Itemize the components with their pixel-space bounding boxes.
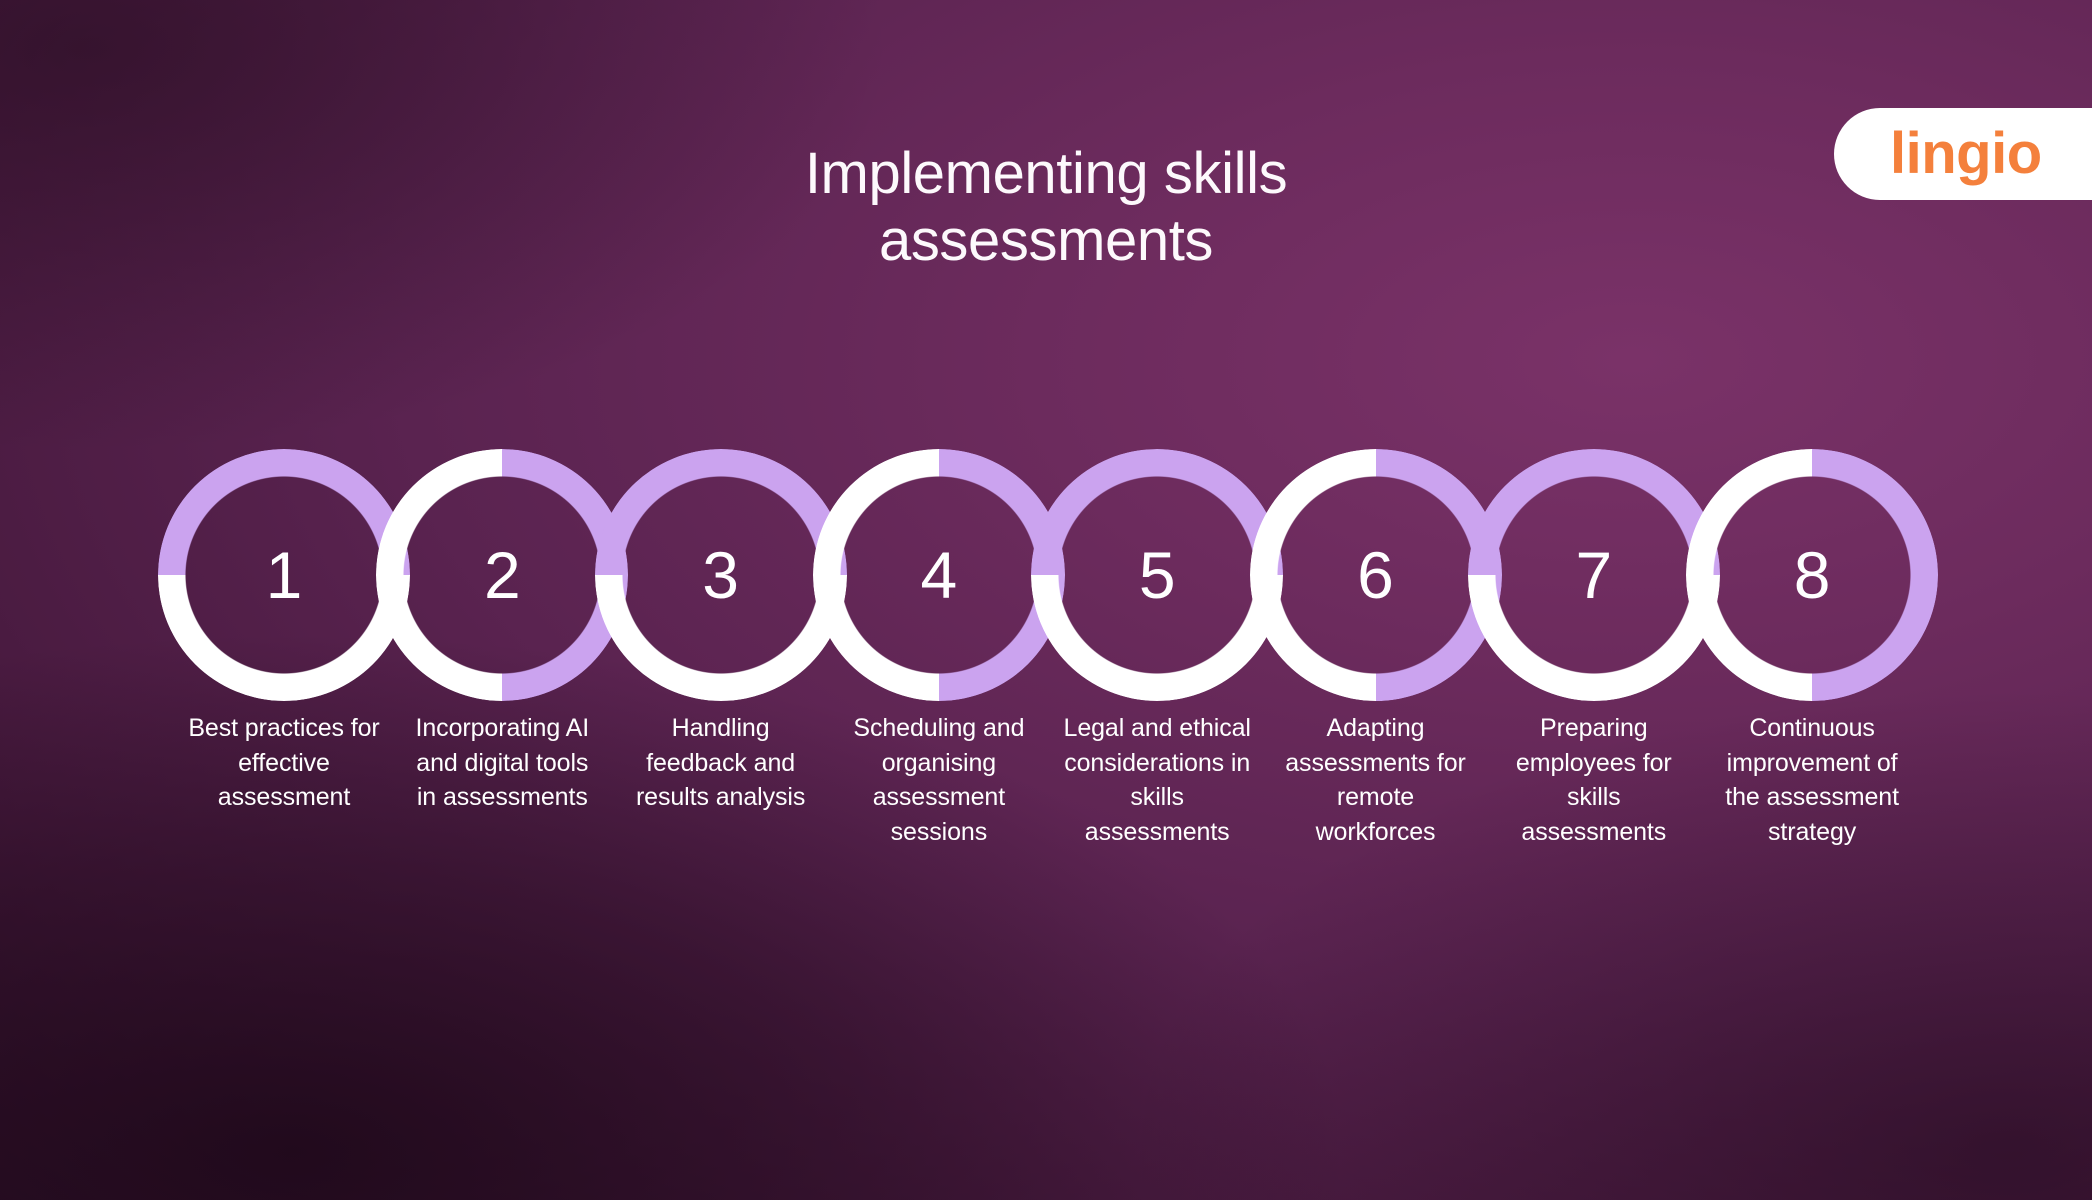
slide-title: Implementing skills assessments [496, 140, 1596, 275]
step-1[interactable]: 1Best practices for effective assessment [158, 449, 410, 921]
step-4[interactable]: 4Scheduling and organising assessment se… [813, 449, 1065, 921]
step-1-number: 1 [158, 449, 410, 701]
step-8-ring: 8 [1686, 449, 1938, 701]
step-3-label: Handling feedback and results analysis [623, 711, 819, 815]
step-6[interactable]: 6Adapting assessments for remote workfor… [1250, 449, 1502, 921]
slide-canvas: lingio Implementing skills assessments 1… [0, 0, 2092, 1200]
step-4-ring: 4 [813, 449, 1065, 701]
step-3-number: 3 [595, 449, 847, 701]
step-6-label: Adapting assessments for remote workforc… [1278, 711, 1474, 849]
step-7[interactable]: 7Preparing employees for skills assessme… [1468, 449, 1720, 921]
step-8[interactable]: 8Continuous improvement of the assessmen… [1686, 449, 1938, 921]
step-5-number: 5 [1031, 449, 1283, 701]
step-4-number: 4 [813, 449, 1065, 701]
step-2-number: 2 [376, 449, 628, 701]
step-1-label: Best practices for effective assessment [186, 711, 382, 815]
step-7-number: 7 [1468, 449, 1720, 701]
step-5-label: Legal and ethical considerations in skil… [1059, 711, 1255, 849]
step-1-ring: 1 [158, 449, 410, 701]
step-2[interactable]: 2Incorporating AI and digital tools in a… [376, 449, 628, 921]
step-2-ring: 2 [376, 449, 628, 701]
step-7-label: Preparing employees for skills assessmen… [1496, 711, 1692, 849]
step-8-number: 8 [1686, 449, 1938, 701]
step-3-ring: 3 [595, 449, 847, 701]
step-4-label: Scheduling and organising assessment ses… [841, 711, 1037, 849]
step-7-ring: 7 [1468, 449, 1720, 701]
step-6-number: 6 [1250, 449, 1502, 701]
lingio-logo: lingio [1834, 108, 2092, 200]
step-5[interactable]: 5Legal and ethical considerations in ski… [1031, 449, 1283, 921]
step-5-ring: 5 [1031, 449, 1283, 701]
step-6-ring: 6 [1250, 449, 1502, 701]
step-3[interactable]: 3Handling feedback and results analysis [595, 449, 847, 921]
step-8-label: Continuous improvement of the assessment… [1714, 711, 1910, 849]
step-2-label: Incorporating AI and digital tools in as… [404, 711, 600, 815]
lingio-logo-wordmark: lingio [1890, 125, 2042, 183]
